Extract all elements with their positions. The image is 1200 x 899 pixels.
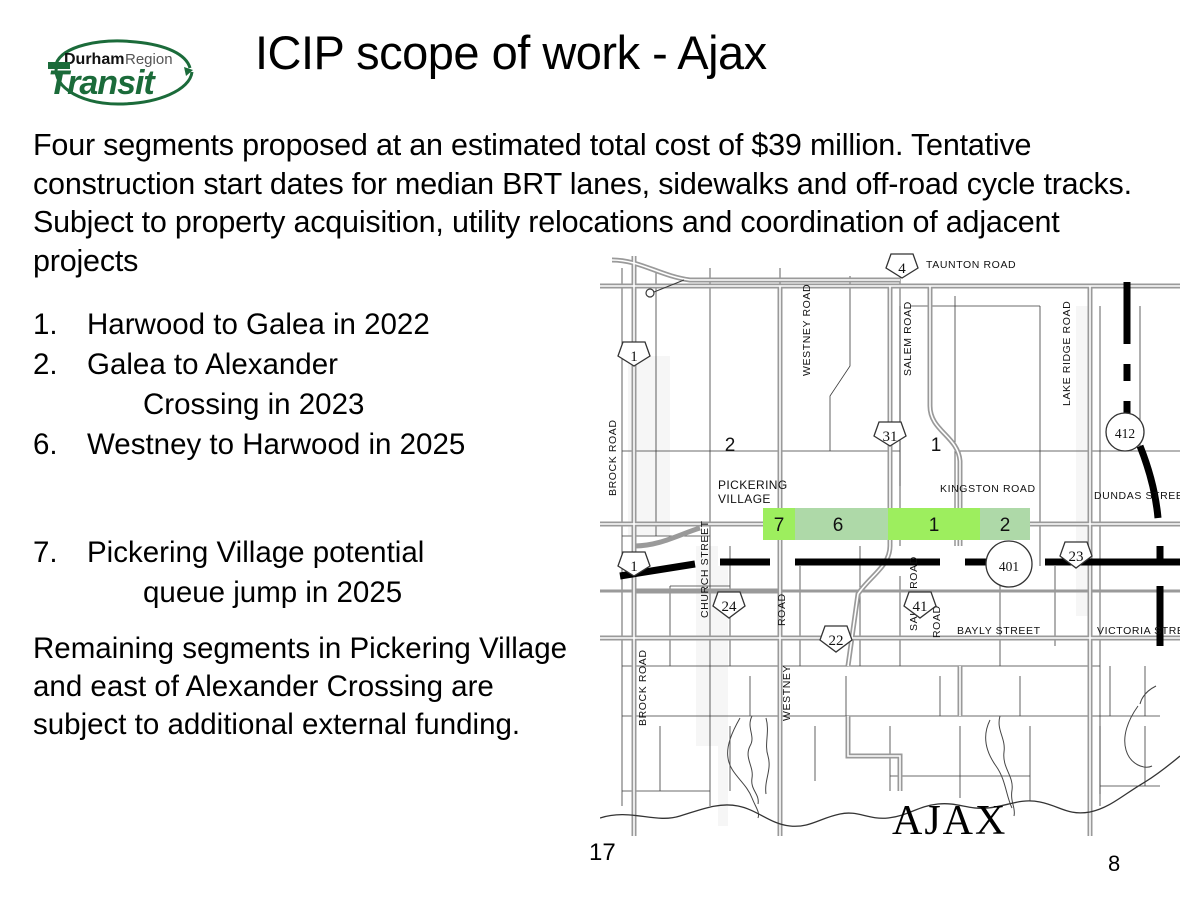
road-label-westney-lower: WESTNEY: [781, 665, 793, 721]
closing-paragraph: Remaining segments in Pickering Village …: [33, 630, 578, 744]
svg-text:401: 401: [999, 559, 1019, 574]
list-item-number: 1.: [33, 305, 87, 345]
svg-text:24: 24: [722, 599, 738, 615]
brt-corridor-highlight: [763, 508, 1030, 540]
road-salem: [930, 286, 960, 546]
road-label-victoria: VICTORIA STREET: [1097, 625, 1180, 637]
svg-text:1: 1: [630, 349, 638, 365]
area-marker-2: 2: [725, 435, 736, 456]
road-label-bayly: BAYLY STREET: [957, 625, 1041, 637]
svg-text:412: 412: [1115, 426, 1135, 441]
road-label-harwood: ROAD: [776, 593, 788, 626]
road-label-taunton: TAUNTON ROAD: [926, 259, 1016, 271]
page-title: ICIP scope of work - Ajax: [255, 28, 955, 77]
list-item: 2. Galea to Alexander: [33, 345, 593, 385]
list-item: 1. Harwood to Galea in 2022: [33, 305, 593, 345]
corridor-segment-label-2: 2: [1000, 515, 1011, 536]
list-item-number: 7.: [33, 533, 87, 573]
road-label-westney: WESTNEY ROAD: [801, 284, 813, 376]
place-label-pickering: PICKERING: [718, 478, 788, 492]
road-label-lakeridge: LAKE RIDGE ROAD: [1061, 301, 1073, 406]
list-item-label: Westney to Harwood in 2025: [87, 425, 593, 465]
svg-text:41: 41: [913, 599, 928, 615]
map-place-name: AJAX: [892, 798, 1007, 844]
map-node-icon: [646, 289, 654, 297]
highway-shield-401: 401: [986, 541, 1032, 587]
segment-list-secondary: 7. Pickering Village potential queue jum…: [33, 533, 593, 613]
svg-text:31: 31: [883, 429, 898, 445]
logo-line2: Transit: [48, 64, 156, 102]
list-item: 7. Pickering Village potential: [33, 533, 593, 573]
area-marker-1: 1: [931, 435, 942, 456]
durham-region-transit-logo: Durham Region Transit: [40, 32, 205, 112]
list-item-label: Harwood to Galea in 2022: [87, 305, 593, 345]
road-label-salem: SALEM ROAD: [902, 301, 914, 376]
road-label-salem-road-lower: ROAD: [931, 605, 943, 638]
list-item-continuation: queue jump in 2025: [33, 573, 593, 613]
corridor-segment-label-7: 7: [774, 515, 785, 536]
road-label-dundas: DUNDAS STREET: [1094, 490, 1180, 502]
road-label-church: CHURCH STREET: [699, 520, 711, 618]
page-number-corner: 8: [1108, 851, 1120, 877]
highway-shield-412: 412: [1106, 413, 1144, 451]
segment-list-primary: 1. Harwood to Galea in 2022 2. Galea to …: [33, 305, 593, 465]
svg-text:23: 23: [1069, 549, 1084, 565]
highway-shield-31: 31: [874, 422, 906, 446]
road-westney: [848, 286, 890, 666]
highway-shield-4: 4: [886, 254, 918, 278]
corridor-segment-label-6: 6: [833, 515, 844, 536]
svg-text:4: 4: [898, 261, 906, 277]
slide-canvas: Durham Region Transit ICIP scope of work…: [0, 0, 1200, 899]
road-label-brock-upper: BROCK ROAD: [607, 419, 619, 496]
place-label-village: VILLAGE: [718, 492, 771, 506]
highway-shield-22: 22: [820, 626, 852, 652]
svg-text:1: 1: [630, 559, 638, 575]
road-label-brock-lower: BROCK ROAD: [637, 649, 649, 726]
corridor-segment-label-1: 1: [929, 515, 940, 536]
road-label-kingston: KINGSTON ROAD: [940, 483, 1036, 495]
list-item-number: 6.: [33, 425, 87, 465]
list-item-label: Pickering Village potential: [87, 533, 593, 573]
list-item-continuation: Crossing in 2023: [33, 385, 593, 425]
svg-text:22: 22: [829, 633, 844, 649]
list-item: 6. Westney to Harwood in 2025: [33, 425, 593, 465]
list-item-label: Galea to Alexander: [87, 345, 593, 385]
list-item-number: 2.: [33, 345, 87, 385]
ajax-municipality-map: 7 6 1 2 2 1 TAUNTON ROAD WESTNEY ROAD SA…: [600, 246, 1180, 846]
